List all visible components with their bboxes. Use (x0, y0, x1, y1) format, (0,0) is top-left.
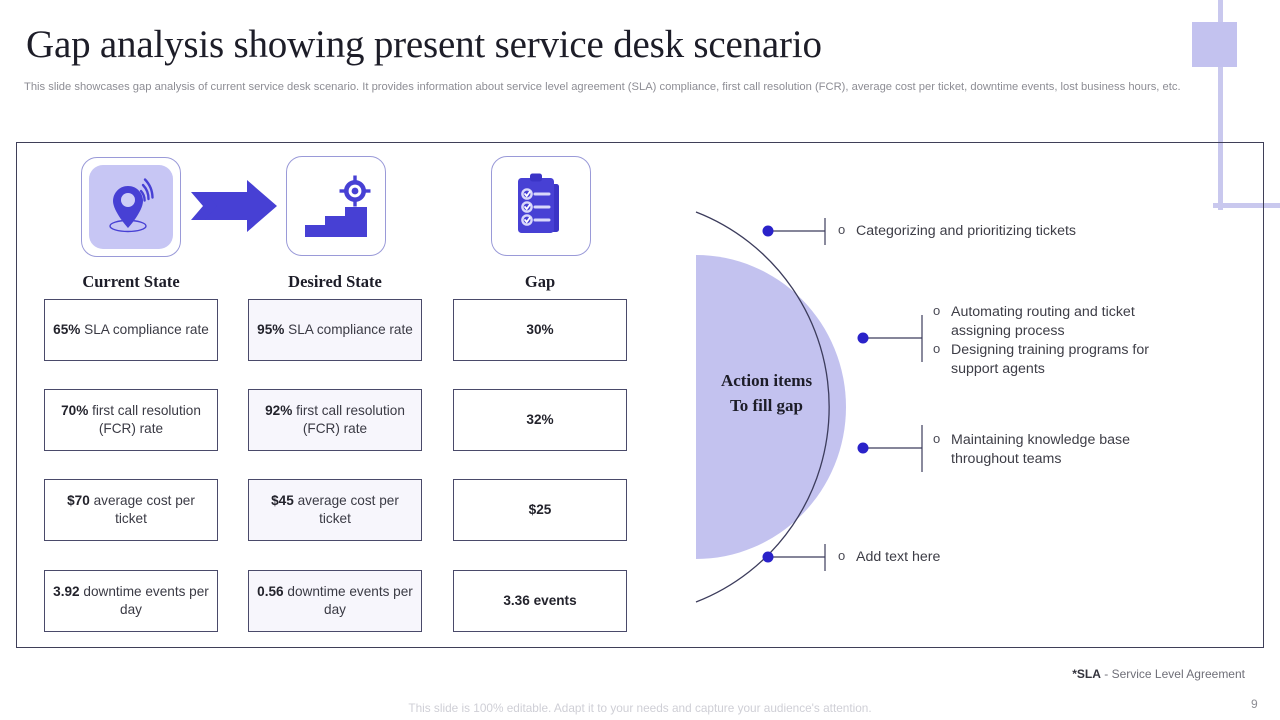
clipboard-checklist-icon (510, 171, 572, 241)
center-label-line-1: Action items (694, 368, 839, 393)
metric-box-desired-4: 0.56 downtime events per day (248, 570, 422, 632)
sla-footnote: *SLA - Service Level Agreement (940, 667, 1245, 681)
metric-box-gap-4: 3.36 events (453, 570, 627, 632)
decorative-square (1192, 22, 1237, 67)
column-header-gap: Gap (450, 272, 630, 292)
connector-dot (763, 226, 774, 237)
metric-value: $70 (67, 493, 90, 508)
metric-value: 95% (257, 322, 284, 337)
metric-text: downtime events per day (284, 584, 413, 617)
connector-3 (858, 425, 923, 472)
connector-dot (858, 333, 869, 344)
metric-text: first call resolution (FCR) rate (292, 403, 405, 436)
connector-1 (763, 218, 826, 245)
metric-box-current-4: 3.92 downtime events per day (44, 570, 218, 632)
connector-dot (763, 552, 774, 563)
action-item-4: Maintaining knowledge base throughout te… (951, 431, 1181, 469)
column-header-current-state: Current State (41, 272, 221, 292)
location-pin-signal-icon (100, 176, 162, 238)
connector-dot (858, 443, 869, 454)
metric-box-gap-1: 30% (453, 299, 627, 361)
metric-box-current-2: 70% first call resolution (FCR) rate (44, 389, 218, 451)
metric-box-desired-1: 95% SLA compliance rate (248, 299, 422, 361)
connector-4 (763, 544, 826, 571)
diagram-center-label: Action items To fill gap (694, 368, 839, 418)
metric-text: first call resolution (FCR) rate (88, 403, 201, 436)
metric-box-gap-2: 32% (453, 389, 627, 451)
metric-value: 65% (53, 322, 80, 337)
metric-value: 0.56 (257, 584, 283, 599)
metric-value: 70% (61, 403, 88, 418)
icon-tint-backdrop (89, 165, 173, 249)
metric-box-current-3: $70 average cost per ticket (44, 479, 218, 541)
metric-value: 92% (265, 403, 292, 418)
metric-text: SLA compliance rate (80, 322, 208, 337)
metric-text: average cost per ticket (294, 493, 399, 526)
editable-note: This slide is 100% editable. Adapt it to… (340, 701, 940, 715)
stairs-target-icon (299, 169, 373, 243)
metric-value: $45 (271, 493, 294, 508)
metric-box-gap-3: $25 (453, 479, 627, 541)
metric-text: average cost per ticket (90, 493, 195, 526)
current-state-icon-card (81, 157, 181, 257)
bullet-icon-4: o (933, 431, 940, 446)
metric-text: SLA compliance rate (284, 322, 412, 337)
slide-root: Gap analysis showing present service des… (0, 0, 1280, 720)
transition-arrow (189, 178, 279, 234)
page-subtitle: This slide showcases gap analysis of cur… (24, 80, 1214, 95)
action-item-3: Designing training programs for support … (951, 341, 1191, 379)
desired-state-icon-card (286, 156, 386, 256)
bullet-icon-1: o (838, 222, 845, 237)
column-header-desired-state: Desired State (245, 272, 425, 292)
sla-expansion: - Service Level Agreement (1101, 667, 1245, 681)
action-item-1: Categorizing and prioritizing tickets (856, 222, 1186, 241)
metric-box-current-1: 65% SLA compliance rate (44, 299, 218, 361)
page-title: Gap analysis showing present service des… (26, 22, 1166, 67)
bullet-icon-3: o (933, 341, 940, 356)
center-label-line-2: To fill gap (694, 393, 839, 418)
action-item-2: Automating routing and ticket assigning … (951, 303, 1191, 341)
page-number: 9 (1251, 697, 1258, 711)
action-item-5: Add text here (856, 548, 1076, 567)
metric-text: downtime events per day (80, 584, 209, 617)
metric-value: 3.92 (53, 584, 79, 599)
bullet-icon-5: o (838, 548, 845, 563)
gap-icon-card (491, 156, 591, 256)
right-arrow-icon (189, 178, 279, 234)
metric-box-desired-2: 92% first call resolution (FCR) rate (248, 389, 422, 451)
bullet-icon-2: o (933, 303, 940, 318)
sla-abbrev: *SLA (1072, 667, 1101, 681)
metric-box-desired-3: $45 average cost per ticket (248, 479, 422, 541)
connector-2 (858, 315, 923, 362)
